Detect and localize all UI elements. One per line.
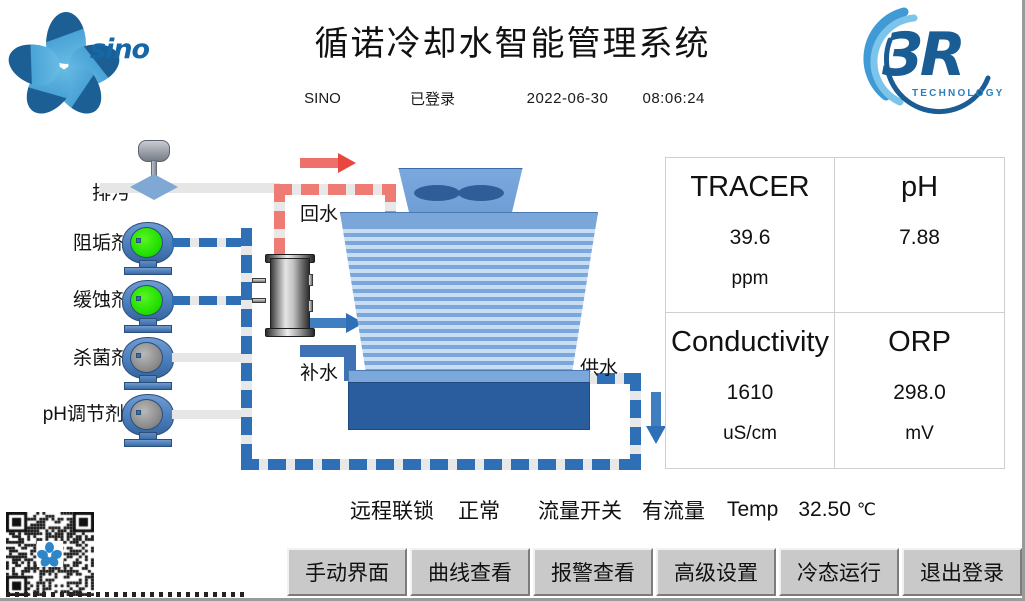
measurement-panel: TRACER 39.6 ppm pH 7.88 Conductivity 161… [665, 157, 1005, 469]
qr-center-logo [37, 541, 63, 567]
return-flow-arrow [300, 158, 356, 168]
flow-switch-label: 流量开关 [538, 495, 622, 525]
return-water-label: 回水 [300, 199, 338, 226]
heat-exchanger-icon[interactable] [262, 248, 320, 343]
plant-status-row: 远程联锁 正常 流量开关 有流量 Temp 32.50 ℃ [350, 492, 1010, 528]
dosing-pump-inhibitor[interactable] [122, 280, 174, 330]
measurement-conductivity-unit: uS/cm [723, 423, 777, 445]
page-title: 循诺冷却水智能管理系统 [0, 16, 1025, 65]
dosing-pump-biocide[interactable] [122, 337, 174, 387]
measurement-ph-name: pH [901, 172, 938, 204]
bottom-decor-strip [6, 592, 246, 597]
dosing-pump-antiscalant[interactable] [122, 222, 174, 272]
cold-start-run-button[interactable]: 冷态运行 [779, 548, 899, 596]
alarm-view-button[interactable]: 报警查看 [533, 548, 653, 596]
cooling-tower-icon[interactable] [340, 168, 645, 428]
measurement-tracer-value: 39.6 [730, 226, 771, 250]
tower-fill-body [340, 212, 598, 372]
tower-basin [348, 382, 590, 430]
dosing-pump-ph[interactable] [122, 394, 174, 444]
supply-flow-arrow [651, 392, 661, 446]
session-login-state: 已登录 [373, 88, 493, 109]
measurement-tracer: TRACER 39.6 ppm [666, 158, 835, 313]
device-label-ph-adjuster: pH调节剂 [14, 399, 124, 426]
qr-code-icon [6, 512, 94, 596]
device-label-antiscalant: 阻垢剂 [20, 228, 130, 255]
measurement-tracer-unit: ppm [732, 268, 769, 290]
logout-button[interactable]: 退出登录 [902, 548, 1022, 596]
return-water-pipe-left [274, 184, 285, 258]
manual-interface-button[interactable]: 手动界面 [287, 548, 407, 596]
measurement-orp: ORP 298.0 mV [835, 313, 1004, 468]
session-date: 2022-06-30 [493, 90, 643, 107]
session-time: 08:06:24 [643, 90, 753, 107]
trend-view-button[interactable]: 曲线查看 [410, 548, 530, 596]
device-label-inhibitor: 缓蚀剂 [20, 285, 130, 312]
dosing-line-antiscalant [172, 238, 242, 247]
advanced-settings-button[interactable]: 高级设置 [656, 548, 776, 596]
flow-switch-value: 有流量 [642, 495, 705, 525]
measurement-conductivity: Conductivity 1610 uS/cm [666, 313, 835, 468]
session-status-bar: SINO 已登录 2022-06-30 08:06:24 [0, 88, 1025, 109]
measurement-tracer-name: TRACER [690, 172, 809, 204]
remote-interlock-value: 正常 [458, 495, 500, 525]
temp-unit: ℃ [857, 500, 876, 520]
dosing-line-inhibitor [172, 296, 242, 305]
measurement-conductivity-value: 1610 [727, 381, 774, 405]
navigation-button-bar: 手动界面 曲线查看 报警查看 高级设置 冷态运行 退出登录 [287, 548, 1022, 596]
temp-value: 32.50 [798, 498, 851, 522]
supply-pipe-left [241, 228, 252, 470]
measurement-conductivity-name: Conductivity [671, 327, 829, 359]
device-label-biocide: 杀菌剂 [20, 343, 130, 370]
supply-pipe-bottom [241, 459, 641, 470]
dosing-line-biocide [172, 353, 242, 362]
dosing-line-ph [172, 410, 242, 419]
measurement-ph-value: 7.88 [899, 226, 940, 250]
temp-label: Temp [727, 498, 778, 522]
measurement-ph: pH 7.88 [835, 158, 1004, 313]
session-user: SINO [273, 90, 373, 107]
blowdown-valve-icon[interactable] [122, 140, 186, 198]
measurement-orp-name: ORP [888, 327, 951, 359]
measurement-orp-unit: mV [905, 423, 934, 445]
measurement-orp-value: 298.0 [893, 381, 946, 405]
tower-fan-hood [393, 168, 528, 213]
remote-interlock-label: 远程联锁 [350, 495, 434, 525]
makeup-water-label: 补水 [300, 358, 338, 385]
hmi-screen: sino 3R TECHNOLOGY 循诺冷却水智能管理系统 SINO 已登录 … [0, 0, 1025, 601]
